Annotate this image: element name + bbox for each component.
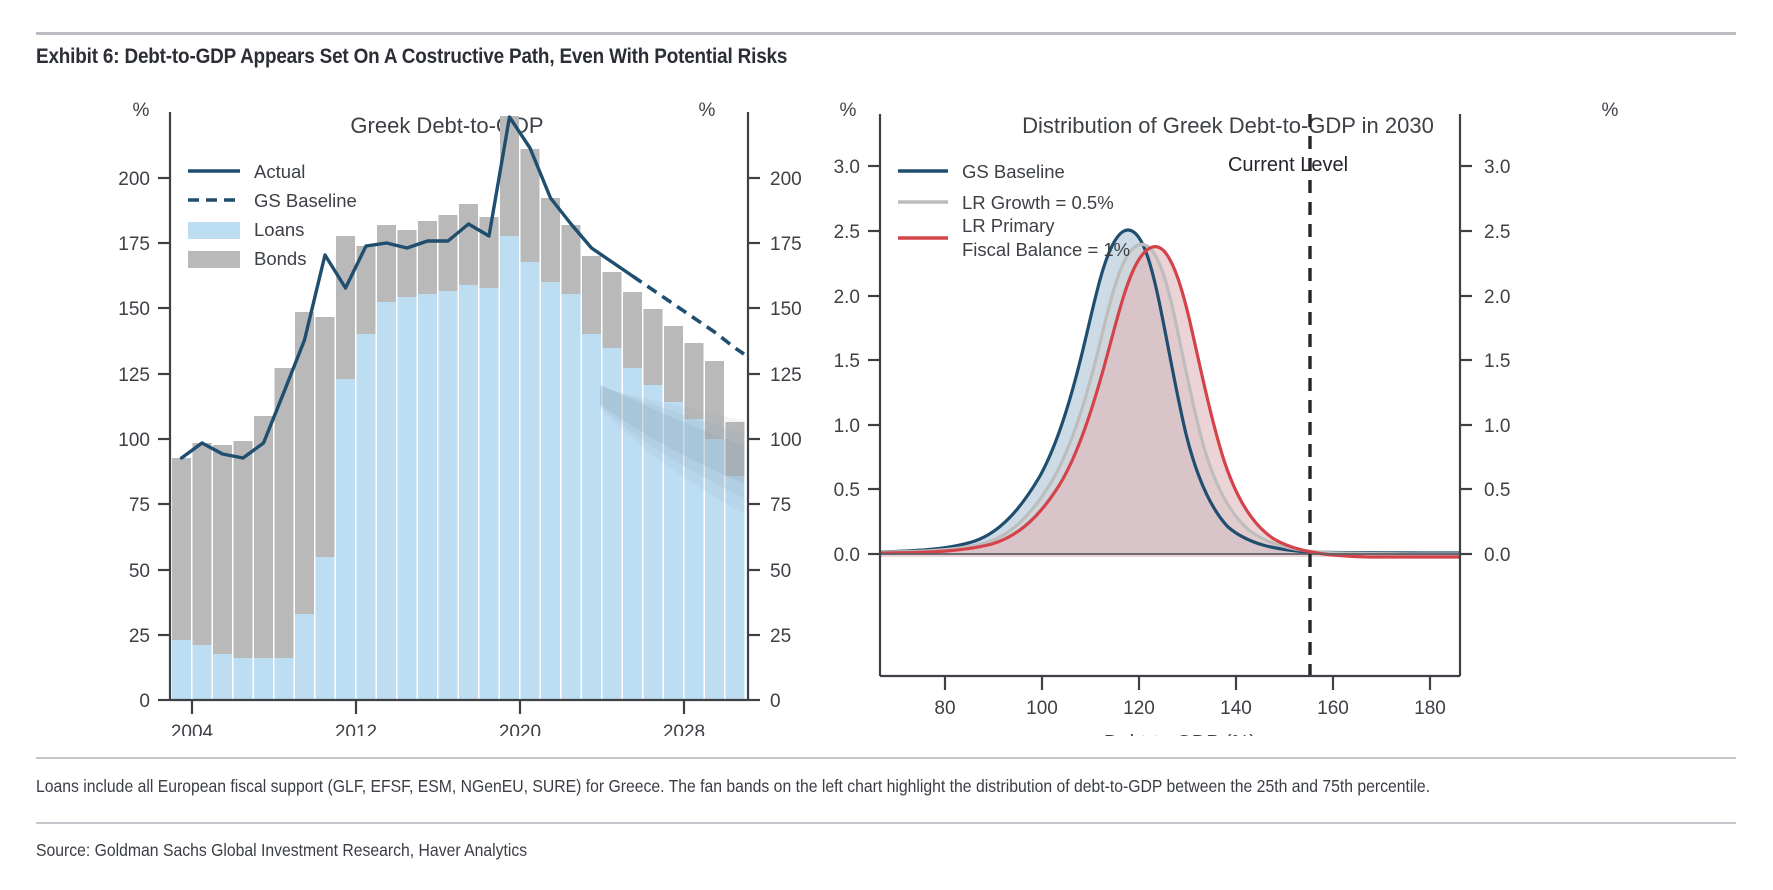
left-x-ticks xyxy=(192,700,684,714)
ytick-right-50: 50 xyxy=(770,561,791,582)
legend-swatch-loans xyxy=(188,222,240,239)
rytick-right-2-0: 2.0 xyxy=(1484,287,1510,308)
rytick-left-1-0: 1.0 xyxy=(834,416,860,437)
rytick-left-2-5: 2.5 xyxy=(834,222,860,243)
charts-area: % % Greek Debt-to-GDP xyxy=(0,86,1773,736)
ytick-left-50: 50 xyxy=(129,561,150,582)
rxtick-180: 180 xyxy=(1414,698,1446,719)
ytick-right-125: 125 xyxy=(770,365,802,386)
left-y-ticklabels-right: 200 175 150 125 100 75 50 25 0 xyxy=(770,169,802,712)
exhibit-container: Exhibit 6: Debt-to-GDP Appears Set On A … xyxy=(0,0,1773,890)
left-legend: Actual GS Baseline Loans Bonds xyxy=(188,161,357,269)
xtick-2028: 2028 xyxy=(663,722,705,736)
ytick-left-100: 100 xyxy=(118,430,150,451)
legend-swatch-bonds xyxy=(188,251,240,268)
right-axis-unit-right: % xyxy=(1602,100,1619,121)
ytick-right-150: 150 xyxy=(770,299,802,320)
legend-label-loans: Loans xyxy=(254,219,304,240)
rytick-right-1-0: 1.0 xyxy=(1484,416,1510,437)
rlegend-label-lr-growth: LR Growth = 0.5% xyxy=(962,192,1114,213)
rlegend-label-lr-primary-2: Fiscal Balance = 1% xyxy=(962,239,1130,260)
legend-label-bonds: Bonds xyxy=(254,248,306,269)
legend-label-actual: Actual xyxy=(254,161,305,182)
left-y-ticks-left xyxy=(158,178,170,700)
right-x-ticklabels: 80 100 120 140 160 180 xyxy=(934,698,1445,719)
rxtick-140: 140 xyxy=(1220,698,1252,719)
left-y-ticklabels-left: 200 175 150 125 100 75 50 25 0 xyxy=(118,169,150,712)
right-x-axis-title: Debt-to-GDP (%) xyxy=(1104,732,1256,736)
rytick-right-2-5: 2.5 xyxy=(1484,222,1510,243)
xtick-2020: 2020 xyxy=(499,722,541,736)
left-axis-unit-left: % xyxy=(133,100,150,121)
rxtick-120: 120 xyxy=(1123,698,1155,719)
left-y-ticks-right xyxy=(748,178,760,700)
ytick-right-175: 175 xyxy=(770,234,802,255)
left-chart: % % Greek Debt-to-GDP xyxy=(118,100,801,736)
footnote-divider xyxy=(36,757,1736,759)
rxtick-100: 100 xyxy=(1026,698,1058,719)
ytick-left-25: 25 xyxy=(129,626,150,647)
source-text: Source: Goldman Sachs Global Investment … xyxy=(36,840,936,861)
rlegend-label-lr-primary-1: LR Primary xyxy=(962,215,1055,236)
rytick-right-0-0: 0.0 xyxy=(1484,545,1510,566)
ytick-left-175: 175 xyxy=(118,234,150,255)
left-x-ticklabels: 2004 2012 2020 2028 xyxy=(171,722,705,736)
ytick-left-75: 75 xyxy=(129,495,150,516)
right-y-ticks-right xyxy=(1460,166,1472,554)
rytick-left-2-0: 2.0 xyxy=(834,287,860,308)
ytick-left-125: 125 xyxy=(118,365,150,386)
charts-svg: % % Greek Debt-to-GDP xyxy=(0,86,1773,736)
right-x-ticks xyxy=(945,676,1430,690)
ytick-right-200: 200 xyxy=(770,169,802,190)
rytick-right-3-0: 3.0 xyxy=(1484,157,1510,178)
right-y-ticklabels-left: 3.0 2.5 2.0 1.5 1.0 0.5 0.0 xyxy=(834,157,860,566)
left-axis-unit-right: % xyxy=(699,100,716,121)
right-axis-unit-left: % xyxy=(840,100,857,121)
legend-label-gs-baseline: GS Baseline xyxy=(254,190,357,211)
rxtick-160: 160 xyxy=(1317,698,1349,719)
rytick-left-3-0: 3.0 xyxy=(834,157,860,178)
current-level-label: Current Level xyxy=(1228,154,1348,176)
rytick-right-0-5: 0.5 xyxy=(1484,480,1510,501)
right-chart-title: Distribution of Greek Debt-to-GDP in 203… xyxy=(1022,113,1434,138)
ytick-left-200: 200 xyxy=(118,169,150,190)
right-legend: GS Baseline LR Growth = 0.5% LR Primary … xyxy=(898,161,1130,260)
rxtick-80: 80 xyxy=(934,698,955,719)
rytick-left-0-0: 0.0 xyxy=(834,545,860,566)
ytick-right-0: 0 xyxy=(770,691,781,712)
right-y-ticks-left xyxy=(868,166,880,554)
ytick-right-25: 25 xyxy=(770,626,791,647)
ytick-right-75: 75 xyxy=(770,495,791,516)
source-divider xyxy=(36,822,1736,824)
page-title: Exhibit 6: Debt-to-GDP Appears Set On A … xyxy=(36,44,1532,69)
footnote-text: Loans include all European fiscal suppor… xyxy=(36,776,1575,797)
rlegend-label-gs-baseline: GS Baseline xyxy=(962,161,1065,182)
ytick-left-150: 150 xyxy=(118,299,150,320)
top-divider xyxy=(36,32,1736,35)
right-chart: % % Distribution of Greek Debt-to-GDP in… xyxy=(834,100,1619,736)
rytick-left-0-5: 0.5 xyxy=(834,480,860,501)
ytick-left-0: 0 xyxy=(139,691,150,712)
rytick-right-1-5: 1.5 xyxy=(1484,351,1510,372)
ytick-right-100: 100 xyxy=(770,430,802,451)
xtick-2012: 2012 xyxy=(335,722,377,736)
xtick-2004: 2004 xyxy=(171,722,214,736)
rytick-left-1-5: 1.5 xyxy=(834,351,860,372)
right-y-ticklabels-right: 3.0 2.5 2.0 1.5 1.0 0.5 0.0 xyxy=(1484,157,1510,566)
density-curves xyxy=(880,230,1460,557)
